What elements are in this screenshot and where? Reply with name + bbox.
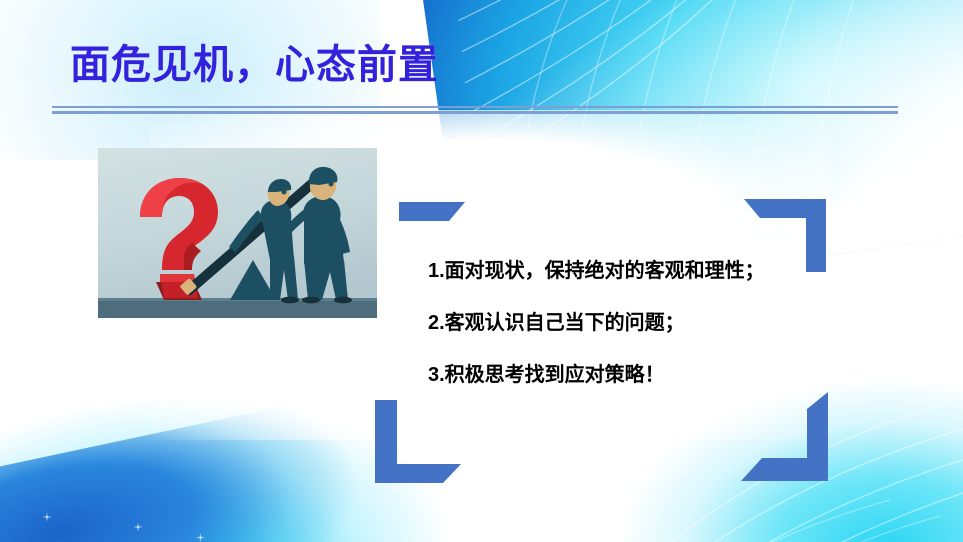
list-item: 2.客观认识自己当下的问题； — [428, 301, 780, 345]
sparkle-icon — [133, 522, 143, 532]
sparkle-icon — [40, 510, 54, 524]
divider-line-thin — [52, 106, 898, 108]
lever-question-mark-illustration — [98, 148, 377, 318]
list-item: 1.面对现状，保持绝对的客观和理性； — [428, 249, 780, 293]
bracket-bottom-right-icon — [741, 392, 828, 481]
background-wave-bottom-left — [0, 386, 430, 542]
bullet-list: 1.面对现状，保持绝对的客观和理性； 2.客观认识自己当下的问题； 3.积极思考… — [428, 249, 780, 397]
sparkle-icon — [196, 533, 205, 542]
presentation-slide: 面危见机，心态前置 — [0, 0, 963, 542]
bracket-top-left-icon — [399, 202, 465, 221]
list-item: 3.积极思考找到应对策略！ — [428, 353, 780, 397]
illustration-artwork — [98, 148, 377, 318]
divider-line-thick — [52, 111, 898, 114]
bracket-bottom-left-icon — [375, 400, 461, 483]
title-divider — [52, 106, 898, 114]
page-title: 面危见机，心态前置 — [70, 32, 439, 90]
